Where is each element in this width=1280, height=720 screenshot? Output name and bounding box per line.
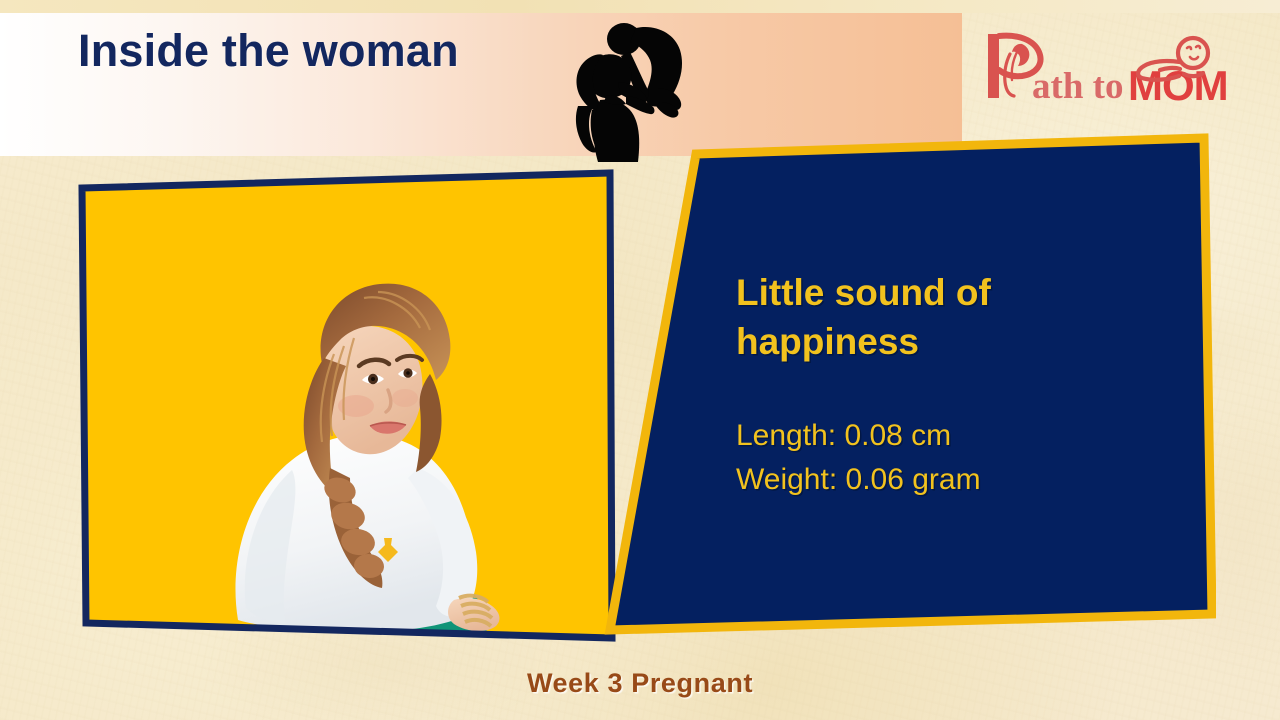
stat-weight-label: Weight: — [736, 463, 837, 496]
baby-info-text: Little sound of happiness Length: 0.08 c… — [736, 268, 1156, 501]
woman-photo-card — [78, 168, 616, 643]
svg-text:ath to: ath to — [1032, 66, 1123, 107]
stat-length-label: Length: — [736, 419, 836, 452]
stat-length-value: 0.08 cm — [844, 419, 951, 452]
footer-caption: Week 3 Pregnant — [0, 668, 1280, 699]
info-stats: Length: 0.08 cm Weight: 0.06 gram — [736, 414, 1156, 501]
stat-weight: Weight: 0.06 gram — [736, 458, 1156, 502]
info-heading: Little sound of happiness — [736, 268, 1156, 366]
path-to-mom-logo: ath to MOM — [984, 30, 1234, 110]
stat-weight-value: 0.06 gram — [846, 463, 981, 496]
page-title: Inside the woman — [78, 25, 459, 77]
stat-length: Length: 0.08 cm — [736, 414, 1156, 458]
slide-canvas: Inside the woman — [0, 0, 1280, 720]
